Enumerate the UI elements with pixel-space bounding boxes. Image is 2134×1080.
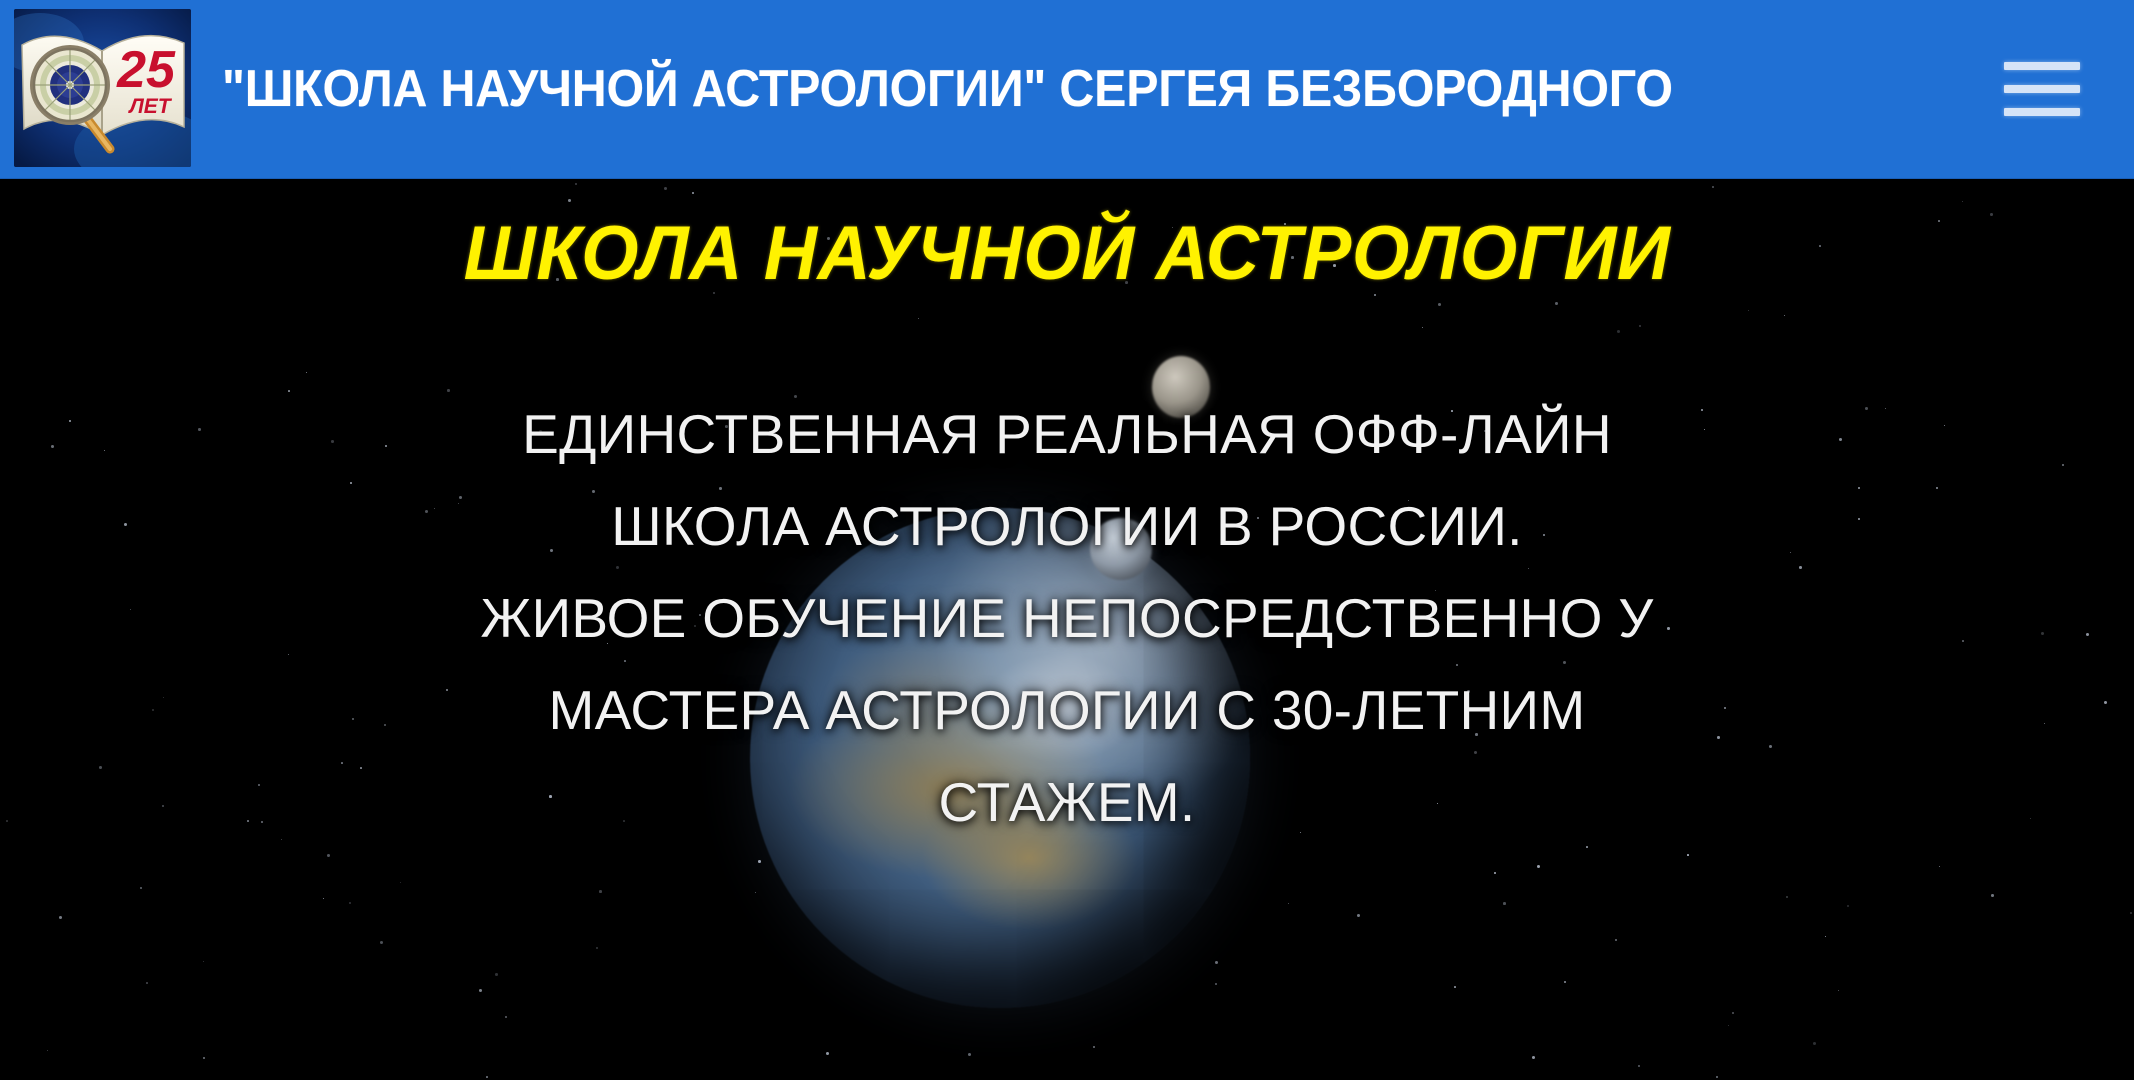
menu-bar-2 xyxy=(2004,85,2080,93)
site-header: 25 ЛЕТ "ШКОЛА НАУЧНОЙ АСТРО xyxy=(0,0,2134,178)
hero-line: ЕДИНСТВЕННАЯ РЕАЛЬНАЯ ОФФ-ЛАЙН xyxy=(0,388,2134,480)
menu-bar-3 xyxy=(2004,108,2080,116)
hero-content: ШКОЛА НАУЧНОЙ АСТРОЛОГИИ ЕДИНСТВЕННАЯ РЕ… xyxy=(0,178,2134,1080)
hero-heading: ШКОЛА НАУЧНОЙ АСТРОЛОГИИ xyxy=(32,216,2102,292)
svg-text:ЛЕТ: ЛЕТ xyxy=(127,95,172,118)
hero-line: ЖИВОЕ ОБУЧЕНИЕ НЕПОСРЕДСТВЕННО У xyxy=(0,572,2134,664)
brand-logo[interactable]: 25 ЛЕТ xyxy=(14,9,191,167)
hero-description: ЕДИНСТВЕННАЯ РЕАЛЬНАЯ ОФФ-ЛАЙНШКОЛА АСТР… xyxy=(0,388,2134,848)
hero-line: СТАЖЕМ. xyxy=(0,756,2134,848)
svg-text:25: 25 xyxy=(116,41,176,99)
site-title: "ШКОЛА НАУЧНОЙ АСТРОЛОГИИ" СЕРГЕЯ БЕЗБОР… xyxy=(222,0,1673,178)
hero-line: ШКОЛА АСТРОЛОГИИ В РОССИИ. xyxy=(0,480,2134,572)
hero-line: МАСТЕРА АСТРОЛОГИИ С 30-ЛЕТНИМ xyxy=(0,664,2134,756)
hamburger-menu-icon[interactable] xyxy=(2004,53,2092,125)
hero-section: ШКОЛА НАУЧНОЙ АСТРОЛОГИИ ЕДИНСТВЕННАЯ РЕ… xyxy=(0,178,2134,1080)
page-root: 25 ЛЕТ "ШКОЛА НАУЧНОЙ АСТРО xyxy=(0,0,2134,1080)
open-book-zodiac-wheel-icon: 25 ЛЕТ xyxy=(14,9,191,167)
menu-bar-1 xyxy=(2004,62,2080,70)
